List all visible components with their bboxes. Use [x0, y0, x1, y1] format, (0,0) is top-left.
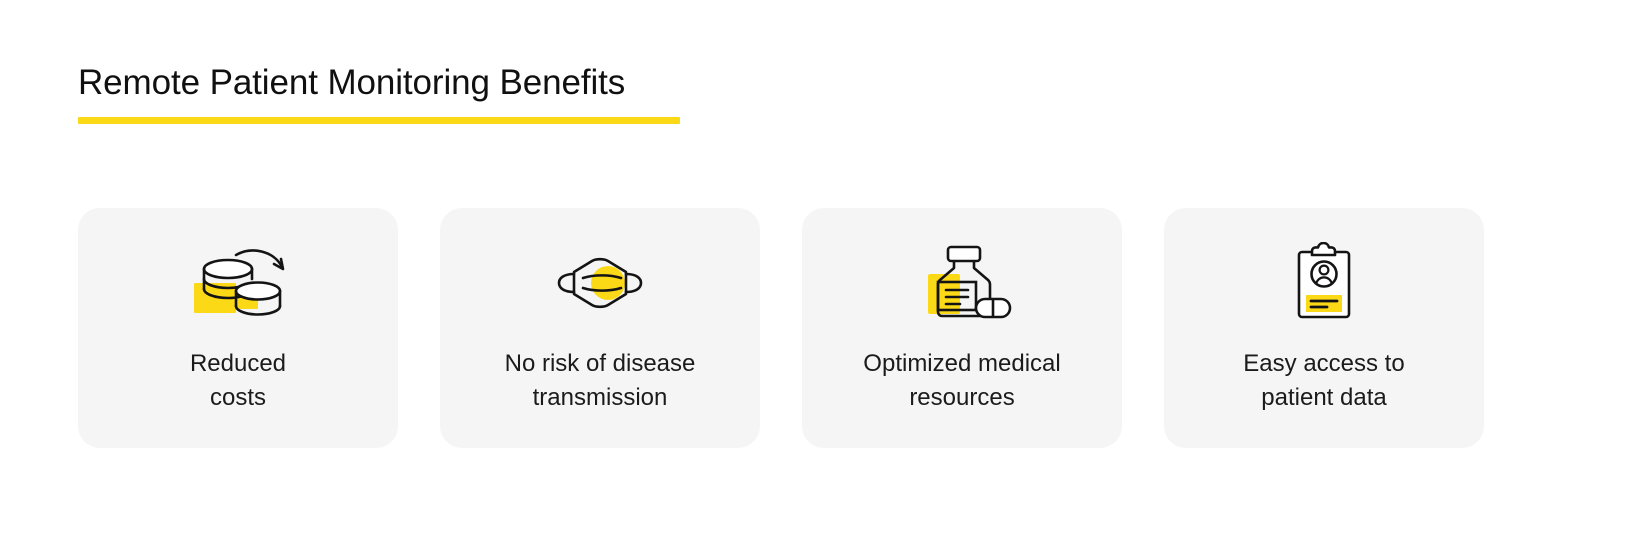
page-title: Remote Patient Monitoring Benefits: [78, 62, 680, 104]
clipboard-patient-data-icon: [1269, 242, 1379, 322]
benefit-label-line-1: Easy access to: [1243, 350, 1404, 377]
benefit-card-optimized-resources[interactable]: Optimized medical resources: [802, 208, 1122, 448]
medicine-bottle-pill-icon: [907, 242, 1017, 322]
face-mask-icon: [545, 242, 655, 322]
benefits-card-row: Reduced costs: [78, 208, 1570, 448]
page-heading: Remote Patient Monitoring Benefits: [78, 62, 680, 124]
benefit-label-line-2: patient data: [1261, 384, 1386, 411]
benefit-label-line-1: Optimized medical: [863, 350, 1060, 377]
infographic-page: Remote Patient Monitoring Benefits: [0, 0, 1648, 552]
benefit-label-line-2: costs: [210, 384, 266, 411]
benefit-card-label: No risk of disease transmission: [505, 347, 696, 415]
benefit-card-label: Optimized medical resources: [863, 347, 1060, 415]
benefit-label-line-1: No risk of disease: [505, 350, 696, 377]
benefit-card-no-disease-transmission[interactable]: No risk of disease transmission: [440, 208, 760, 448]
benefit-card-label: Easy access to patient data: [1243, 347, 1404, 415]
benefit-card-easy-access[interactable]: Easy access to patient data: [1164, 208, 1484, 448]
benefit-label-line-2: transmission: [533, 384, 668, 411]
benefit-label-line-1: Reduced: [190, 350, 286, 377]
title-underline-accent: [78, 117, 680, 124]
benefit-card-reduced-costs[interactable]: Reduced costs: [78, 208, 398, 448]
coins-rotate-icon: [183, 242, 293, 322]
benefit-label-line-2: resources: [909, 384, 1014, 411]
benefit-card-label: Reduced costs: [190, 347, 286, 415]
